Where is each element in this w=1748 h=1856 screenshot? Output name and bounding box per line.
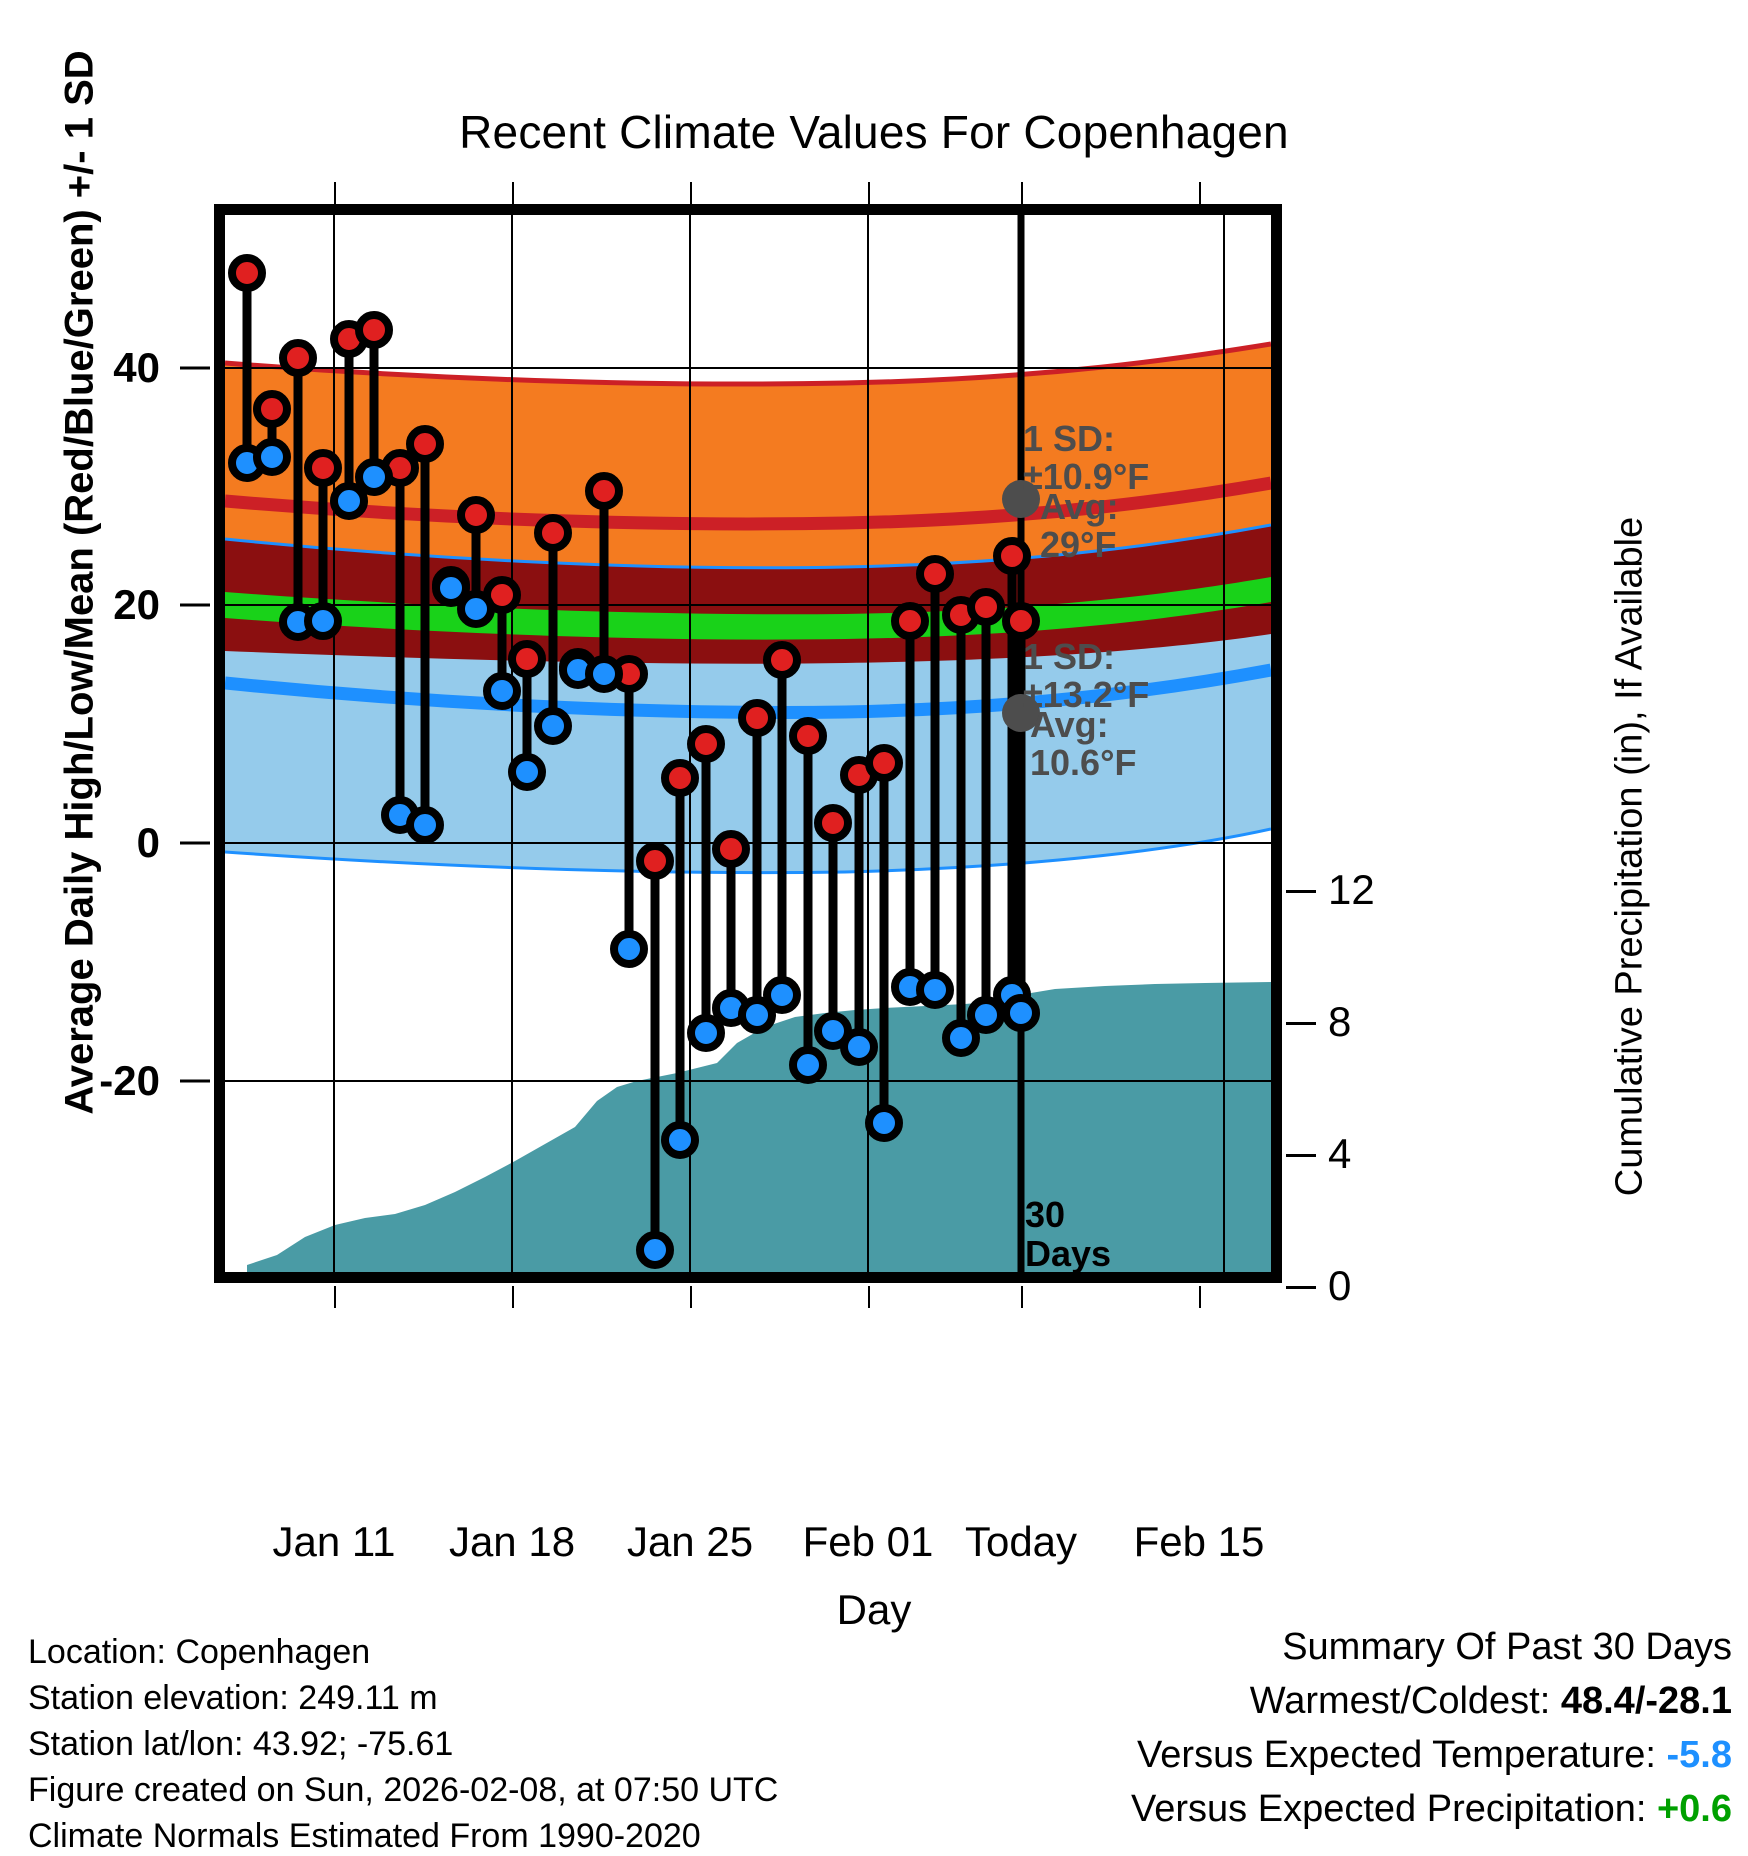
metadata-latlon: Station lat/lon: 43.92; -75.61 [28,1725,453,1764]
vs-precipitation-value: +0.6 [1657,1788,1732,1830]
metadata-created-on: Figure created on Sun, 2026-02-08, at 07… [28,1771,778,1810]
vs-temperature-value: -5.8 [1667,1734,1732,1776]
xtick-feb-01: Feb 01 [803,1518,934,1566]
y-axis-left-title: Average Daily High/Low/Mean (Red/Blue/Gr… [58,33,103,1133]
warmest-coldest-label: Warmest/Coldest: [1250,1680,1551,1722]
ytick-right-1: 8 [1328,998,1418,1046]
vs-precipitation-label: Versus Expected Precipitation: [1131,1788,1646,1830]
ytick-right-0: 12 [1328,866,1418,914]
summary-warmest-coldest: Warmest/Coldest: 48.4/-28.1 [1250,1680,1732,1723]
xtick-today: Today [965,1518,1077,1566]
metadata-elevation: Station elevation: 249.11 m [28,1679,438,1718]
xtick-jan-18: Jan 18 [449,1518,575,1566]
summary-heading: Summary Of Past 30 Days [1282,1626,1732,1669]
vs-temperature-label: Versus Expected Temperature: [1137,1734,1656,1776]
summary-vs-temperature: Versus Expected Temperature: -5.8 [1137,1734,1732,1777]
xtick-jan-11: Jan 11 [273,1518,396,1566]
page-title: Recent Climate Values For Copenhagen [0,105,1748,159]
summary-vs-precipitation: Versus Expected Precipitation: +0.6 [1131,1788,1732,1831]
y-axis-right-title: Cumulative Precipitation (in), If Availa… [1609,357,1652,1357]
xtick-feb-15: Feb 15 [1134,1518,1265,1566]
metadata-location: Location: Copenhagen [28,1633,370,1672]
metadata-normals: Climate Normals Estimated From 1990-2020 [28,1817,701,1856]
ytick-right-2: 4 [1328,1130,1418,1178]
xtick-jan-25: Jan 25 [627,1518,753,1566]
plot-frame [214,204,1282,1283]
ytick-right-3: 0 [1328,1262,1418,1310]
warmest-coldest-value: 48.4/-28.1 [1561,1680,1732,1722]
